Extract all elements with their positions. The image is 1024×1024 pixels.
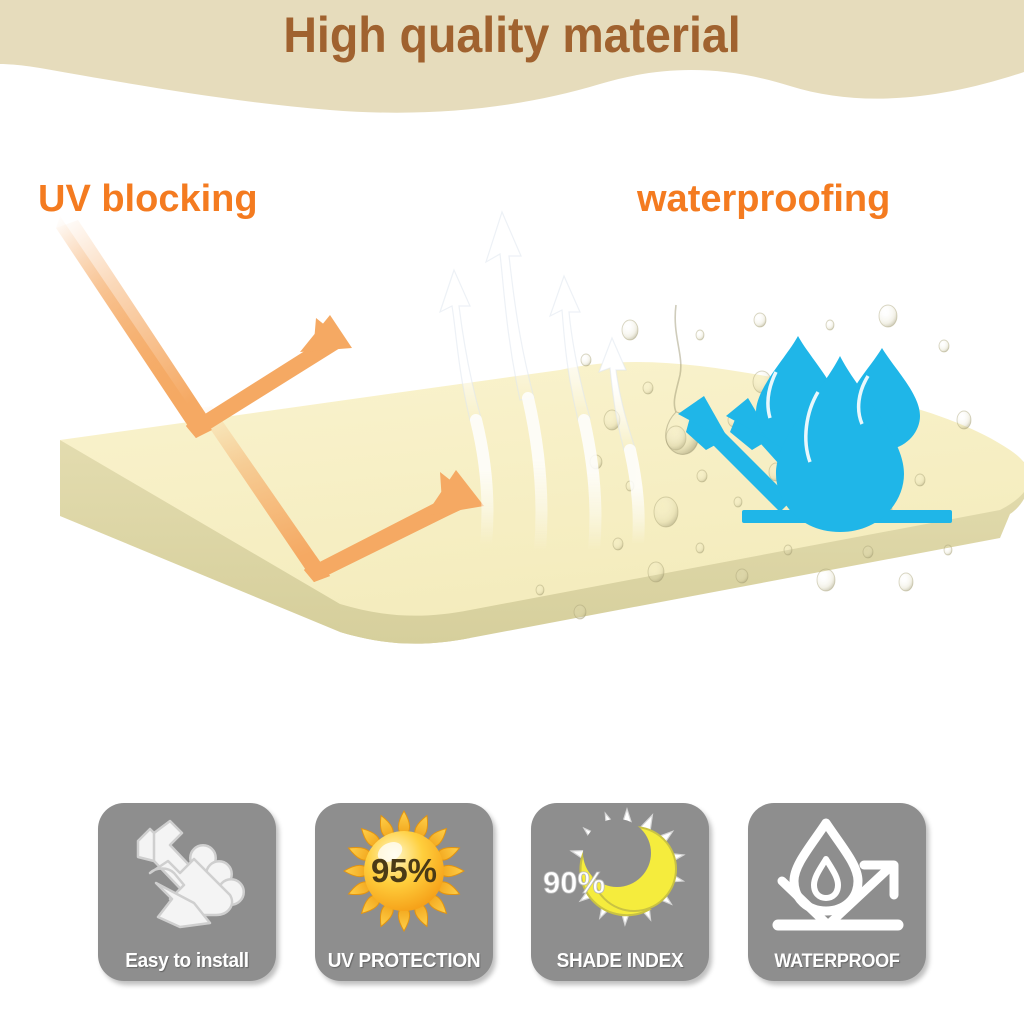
material-cross-section-illustration [0, 120, 1024, 780]
page-title: High quality material [36, 6, 988, 64]
droplet-bounce-icon [748, 807, 926, 937]
sun-rays-icon: 95% [315, 807, 493, 937]
shade-index-value: 90% [543, 865, 605, 900]
badge-easy-to-install[interactable]: Easy to install [98, 803, 276, 981]
wrench-hand-icon [98, 807, 276, 937]
header-banner: High quality material [0, 0, 1024, 120]
badge-shade-index[interactable]: 90% SHADE INDEX [531, 803, 709, 981]
badge-label: UV PROTECTION [319, 950, 488, 973]
feature-badge-row: Easy to install [98, 803, 926, 983]
badge-label: SHADE INDEX [536, 950, 705, 973]
sun-crescent-icon: 90% [531, 807, 709, 937]
badge-label: Easy to install [102, 950, 271, 973]
badge-label: WATERPROOF [752, 951, 921, 973]
badge-uv-protection[interactable]: 95% UV PROTECTION [315, 803, 493, 981]
product-feature-graphic: High quality material UV blocking waterp… [0, 0, 1024, 1024]
uv-ray-group [56, 220, 336, 438]
uv-protection-value: 95% [371, 852, 437, 889]
badge-waterproof[interactable]: WATERPROOF [748, 803, 926, 981]
